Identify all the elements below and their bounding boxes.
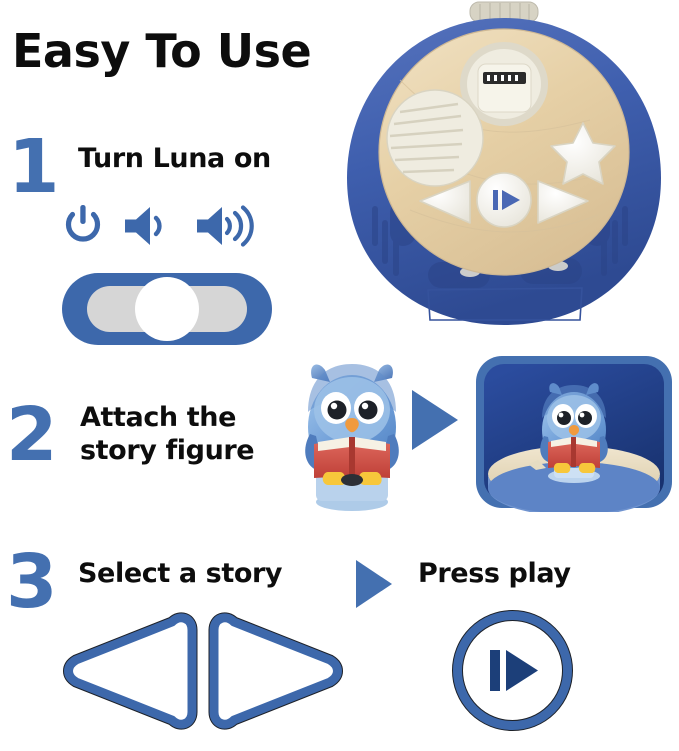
volume-low-icon [122,204,176,248]
play-pause-button[interactable] [450,608,575,733]
owl-story-figure [305,364,399,511]
power-volume-icon-row [62,204,260,248]
owl-figure-on-device-card [476,356,672,512]
page-title: Easy To Use [12,28,311,74]
next-triangle-button [214,618,338,724]
power-toggle-switch[interactable] [62,273,272,345]
toggle-track [87,286,247,332]
arrow-right-icon [352,556,396,617]
step-2-illustration-row [292,352,679,512]
volume-dial [387,90,483,186]
step-1-title: Turn Luna on [78,143,271,176]
step-2-title: Attach the story figure [80,402,310,468]
step-1-number: 1 [8,130,60,204]
step-2-title-line-2: story figure [80,435,310,468]
power-icon [62,204,104,248]
previous-triangle-button [69,618,193,724]
step-2-title-line-1: Attach the [80,402,310,435]
toggle-knob[interactable] [135,277,199,341]
step-3-title: Select a story [78,558,282,591]
step-3-number: 3 [6,545,58,619]
step-3-title-secondary: Press play [418,558,571,591]
easy-to-use-instructions-page: Easy To Use 1 Turn Luna on [0,0,679,751]
story-navigation-buttons [58,608,348,733]
step-2-number: 2 [6,398,58,472]
volume-high-icon [194,204,260,248]
arrow-right-icon [412,390,458,450]
luna-device-illustration [330,0,679,340]
play-button [477,173,531,227]
